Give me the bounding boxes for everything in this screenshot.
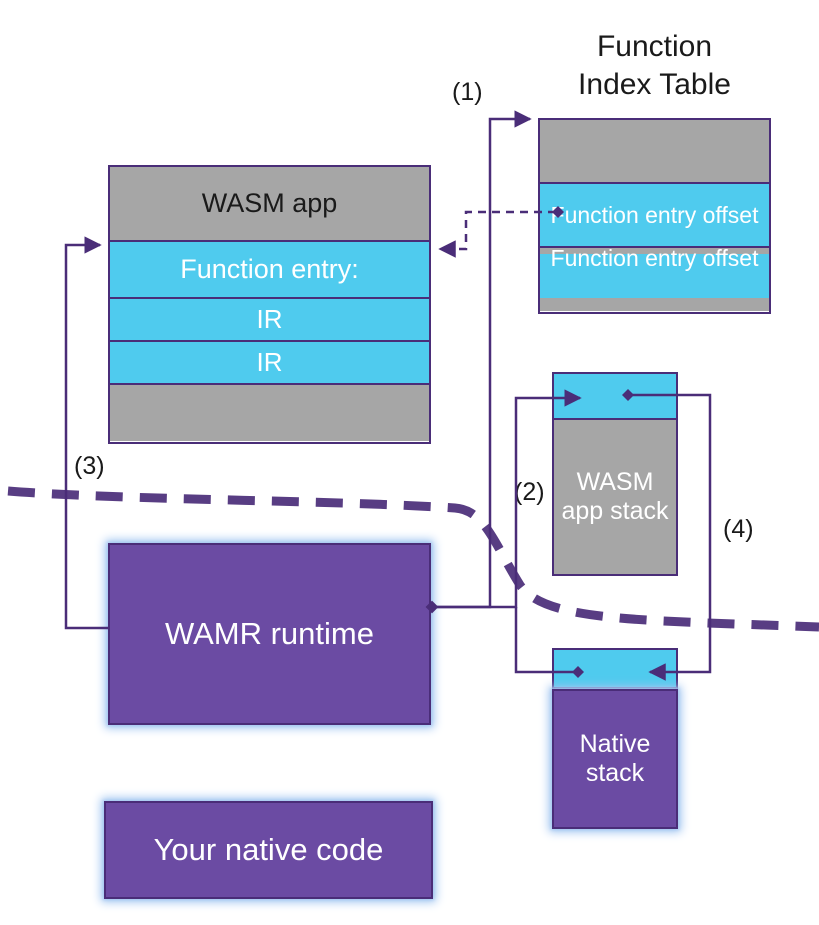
step-label-3: (3) <box>74 452 105 481</box>
native-stack-header[interactable] <box>552 648 678 689</box>
wasm-app-ir-label-2: IR <box>257 348 283 377</box>
wasm-app-ir-label-1: IR <box>257 305 283 334</box>
wasm-app-stack-label: WASM app stack <box>554 468 676 526</box>
step-label-2: (2) <box>514 478 545 507</box>
native-stack-label: Native stack <box>554 730 676 788</box>
function-index-table-box[interactable]: Function entry offset Function entry off… <box>538 118 771 314</box>
wasm-app-stack-box[interactable]: WASM app stack <box>552 372 678 576</box>
wasm-app-stack-body: WASM app stack <box>554 418 676 574</box>
function-index-table-title-line-1: Function <box>538 28 771 66</box>
wasm-app-stack-header[interactable] <box>554 374 676 418</box>
step-label-4: (4) <box>723 515 754 544</box>
wamr-runtime-box[interactable]: WAMR runtime <box>108 543 431 725</box>
fit-label-function-entry-offset-2: Function entry offset <box>551 246 759 270</box>
wasm-app-footer-row <box>110 383 429 441</box>
fit-row-function-entry-offset-2[interactable]: Function entry offset <box>540 254 769 298</box>
function-index-table-title: Function Index Table <box>538 28 771 103</box>
your-native-code-label: Your native code <box>154 833 384 868</box>
connector-step-1 <box>427 119 530 612</box>
wasm-app-header-label: WASM app <box>202 188 338 218</box>
fit-label-function-entry-offset-1: Function entry offset <box>551 203 759 227</box>
wamr-runtime-label: WAMR runtime <box>165 617 374 652</box>
fit-row-empty-top <box>540 120 769 182</box>
your-native-code-box[interactable]: Your native code <box>104 801 433 899</box>
step-label-1: (1) <box>452 78 483 107</box>
wasm-app-function-entry-label: Function entry: <box>180 254 359 284</box>
function-index-table-title-line-2: Index Table <box>538 66 771 104</box>
wasm-app-ir-row-1[interactable]: IR <box>110 297 429 340</box>
fit-row-function-entry-offset-1[interactable]: Function entry offset <box>540 182 769 246</box>
wasm-app-function-entry-row[interactable]: Function entry: <box>110 240 429 297</box>
native-stack-body: Native stack <box>552 689 678 829</box>
native-stack-box[interactable]: Native stack <box>552 648 678 829</box>
wasm-app-header-row: WASM app <box>110 167 429 240</box>
fit-row-empty-bottom <box>540 298 769 311</box>
diagram-canvas: Function Index Table WASM app Function e… <box>0 0 819 925</box>
wasm-app-ir-row-2[interactable]: IR <box>110 340 429 383</box>
wasm-app-box[interactable]: WASM app Function entry: IR IR <box>108 165 431 444</box>
connector-step-3 <box>66 245 108 628</box>
